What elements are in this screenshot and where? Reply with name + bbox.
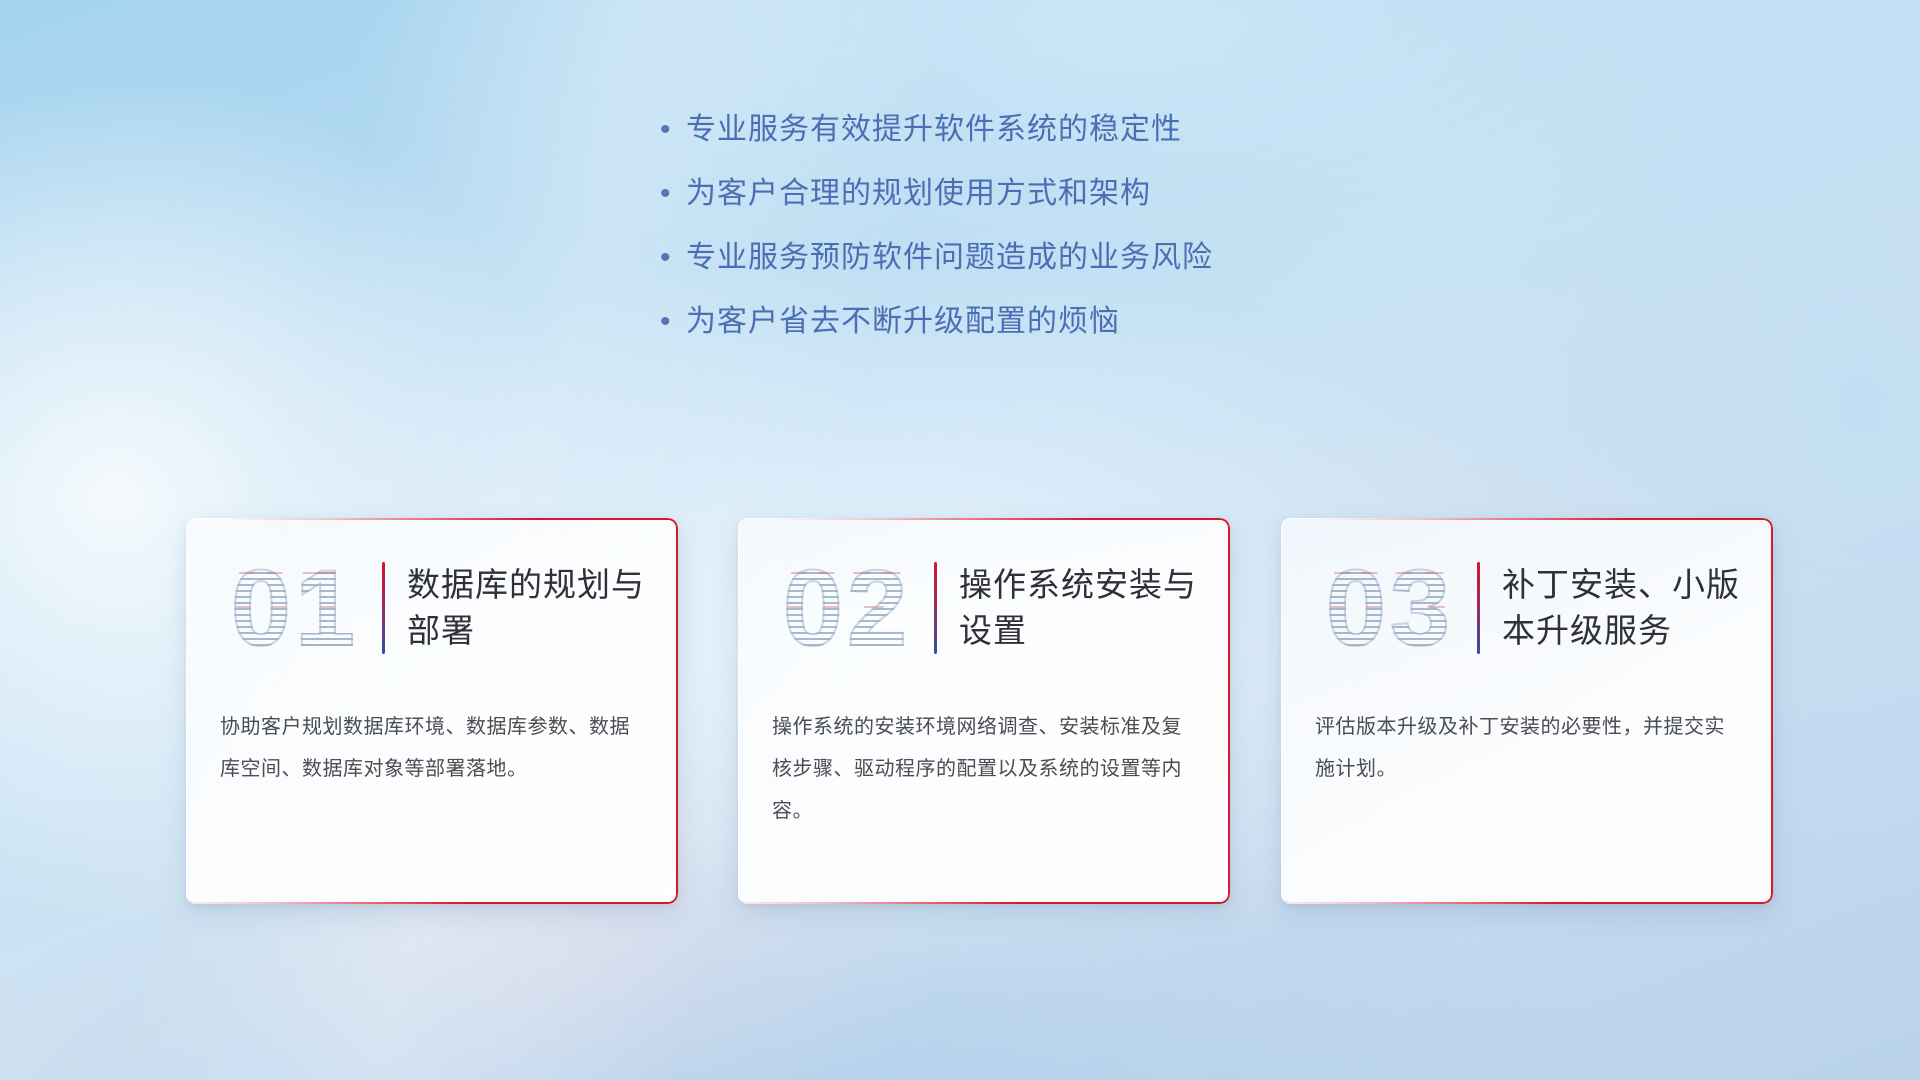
divider-shape bbox=[180, 420, 1760, 446]
card-title: 数据库的规划与部署 bbox=[407, 562, 678, 654]
bullet-dot-icon: • bbox=[660, 302, 686, 342]
slide-canvas: • 专业服务有效提升软件系统的稳定性 • 为客户合理的规划使用方式和架构 • 专… bbox=[0, 0, 1920, 1080]
bullet-dot-icon: • bbox=[660, 110, 686, 150]
card-title: 操作系统安装与设置 bbox=[959, 562, 1230, 654]
card-body-text: 协助客户规划数据库环境、数据库参数、数据库空间、数据库对象等部署落地。 bbox=[220, 706, 648, 790]
bullet-dot-icon: • bbox=[660, 174, 686, 214]
bullet-item: • 专业服务有效提升软件系统的稳定性 bbox=[660, 110, 1560, 154]
card-header: 01 数据库的规划与部署 bbox=[186, 538, 678, 678]
card-header: 02 操作系统安装与设置 bbox=[738, 538, 1230, 678]
section-divider bbox=[180, 420, 1760, 446]
bullet-text: 专业服务预防软件问题造成的业务风险 bbox=[686, 238, 1213, 278]
bullet-dot-icon: • bbox=[660, 238, 686, 278]
benefits-bullet-list: • 专业服务有效提升软件系统的稳定性 • 为客户合理的规划使用方式和架构 • 专… bbox=[660, 110, 1560, 366]
service-card[interactable]: 02 操作系统安装与设置 02 操作系统的安装环境网络调查、安装标准及复核步骤、… bbox=[738, 518, 1230, 904]
card-title-rule bbox=[934, 562, 937, 654]
card-number-01: 01 bbox=[212, 548, 378, 668]
service-card[interactable]: 03 补丁安装、小版本升级服务 03 评估版本升级及补丁安装的必要性，并提交实施… bbox=[1281, 518, 1773, 904]
card-header: 03 补丁安装、小版本升级服务 bbox=[1281, 538, 1773, 678]
card-title-rule bbox=[382, 562, 385, 654]
card-body-text: 评估版本升级及补丁安装的必要性，并提交实施计划。 bbox=[1315, 706, 1743, 790]
card-number-03: 03 bbox=[1307, 548, 1473, 668]
service-card[interactable]: 01 数据库的规划与部署 01 协助客户规划数据库环境、数据库参数、数据库空间、… bbox=[186, 518, 678, 904]
bullet-item: • 为客户省去不断升级配置的烦恼 bbox=[660, 302, 1560, 346]
bullet-item: • 为客户合理的规划使用方式和架构 bbox=[660, 174, 1560, 218]
card-title: 补丁安装、小版本升级服务 bbox=[1502, 562, 1773, 654]
bullet-text: 为客户省去不断升级配置的烦恼 bbox=[686, 302, 1120, 342]
bullet-text: 为客户合理的规划使用方式和架构 bbox=[686, 174, 1151, 214]
bullet-item: • 专业服务预防软件问题造成的业务风险 bbox=[660, 238, 1560, 282]
card-body-text: 操作系统的安装环境网络调查、安装标准及复核步骤、驱动程序的配置以及系统的设置等内… bbox=[772, 706, 1200, 832]
card-title-rule bbox=[1477, 562, 1480, 654]
service-card-row: 01 数据库的规划与部署 01 协助客户规划数据库环境、数据库参数、数据库空间、… bbox=[0, 518, 1920, 918]
bullet-text: 专业服务有效提升软件系统的稳定性 bbox=[686, 110, 1182, 150]
card-number-02: 02 bbox=[764, 548, 930, 668]
